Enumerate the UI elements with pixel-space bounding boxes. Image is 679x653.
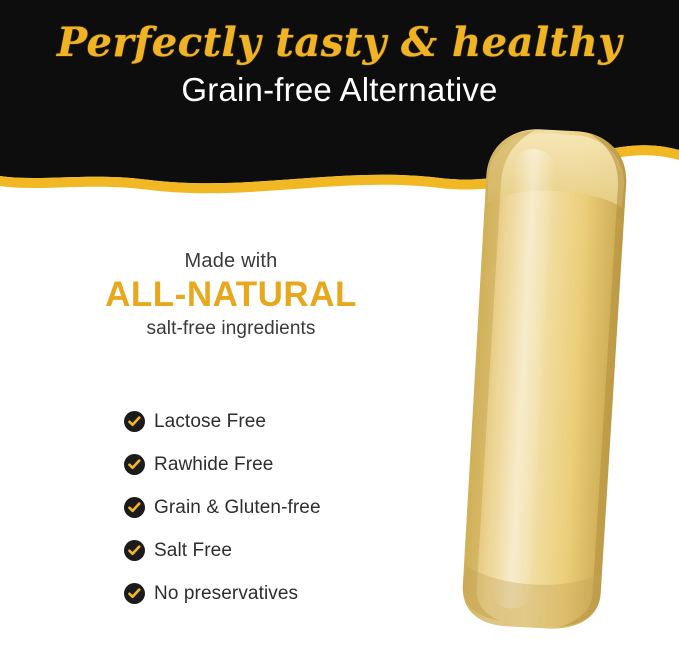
feature-label: Lactose Free	[154, 411, 266, 433]
feature-label: Rawhide Free	[154, 454, 273, 476]
feature-label: No preservatives	[154, 583, 298, 605]
feature-item: Salt Free	[124, 529, 424, 572]
salt-free-subtitle: salt-free ingredients	[86, 318, 376, 340]
check-icon	[124, 583, 145, 604]
cheese-chew-stick-image	[436, 120, 656, 630]
check-icon	[124, 540, 145, 561]
check-icon	[124, 411, 145, 432]
all-natural-headline: ALL-NATURAL	[86, 277, 376, 314]
feature-item: Lactose Free	[124, 400, 424, 443]
feature-item: No preservatives	[124, 572, 424, 615]
check-icon	[124, 497, 145, 518]
check-icon	[124, 454, 145, 475]
copy-block: Made with ALL-NATURAL salt-free ingredie…	[86, 250, 376, 340]
feature-label: Grain & Gluten-free	[154, 497, 321, 519]
feature-list: Lactose Free Rawhide Free Grain & Gluten…	[124, 400, 424, 615]
made-with-label: Made with	[86, 250, 376, 273]
feature-item: Rawhide Free	[124, 443, 424, 486]
feature-item: Grain & Gluten-free	[124, 486, 424, 529]
product-infographic: Perfectly tasty & healthy Grain-free Alt…	[0, 0, 679, 653]
feature-label: Salt Free	[154, 540, 232, 562]
